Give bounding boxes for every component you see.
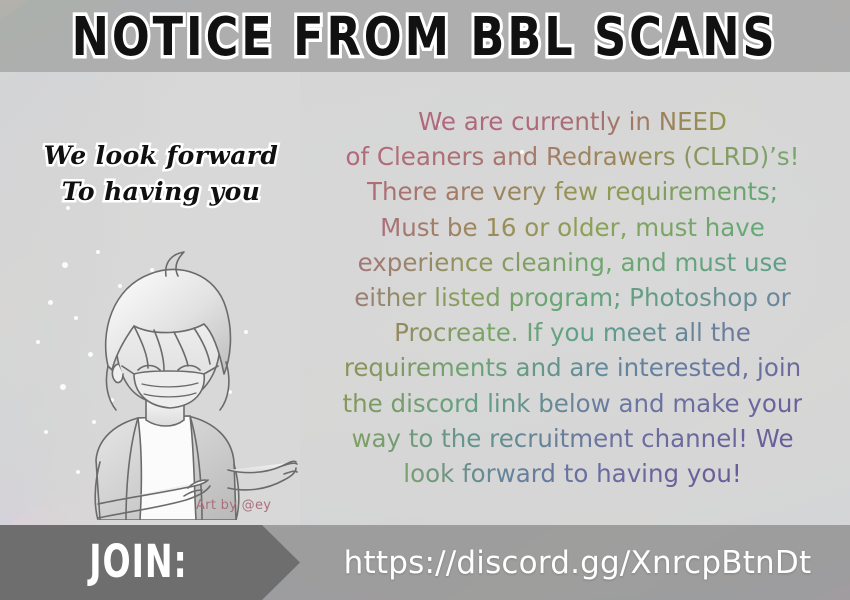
- discord-invite-link[interactable]: https://discord.gg/XnrcpBtnDt: [305, 525, 850, 600]
- join-bar: JOIN: https://discord.gg/XnrcpBtnDt: [0, 525, 850, 600]
- notice-poster: NOTICE FROM BBL SCANS We look forward To…: [0, 0, 850, 600]
- body-line: Must be 16 or older, must have: [300, 210, 845, 245]
- body-line: the discord link below and make your: [300, 386, 845, 421]
- join-label: JOIN:: [89, 537, 187, 588]
- body-line: There are very few requirements;: [300, 174, 845, 209]
- body-line: either listed program; Photoshop or: [300, 280, 845, 315]
- notice-body-text: We are currently in NEEDof Cleaners and …: [300, 104, 845, 491]
- underlined-text: NEED: [659, 107, 727, 136]
- body-line: requirements and are interested, join: [300, 350, 845, 385]
- body-line: experience cleaning, and must use: [300, 245, 845, 280]
- handwritten-line-2: To having you: [30, 174, 292, 210]
- page-title: NOTICE FROM BBL SCANS: [72, 5, 778, 68]
- body-line: of Cleaners and Redrawers (CLRD)’s!: [300, 139, 845, 174]
- masked-character-illustration: [38, 248, 298, 520]
- body-line: We are currently in NEED: [300, 104, 845, 139]
- join-chevron: JOIN:: [0, 525, 300, 600]
- body-line: Procreate. If you meet all the: [300, 315, 845, 350]
- handwritten-message: We look forward To having you: [30, 138, 292, 209]
- header-band: NOTICE FROM BBL SCANS: [0, 0, 850, 72]
- body-line: way to the recruitment channel! We: [300, 421, 845, 456]
- handwritten-line-1: We look forward: [30, 138, 292, 174]
- body-line: look forward to having you!: [300, 456, 845, 491]
- underlined-text: Must be: [380, 213, 477, 242]
- art-credit: Art by @ey: [196, 498, 271, 513]
